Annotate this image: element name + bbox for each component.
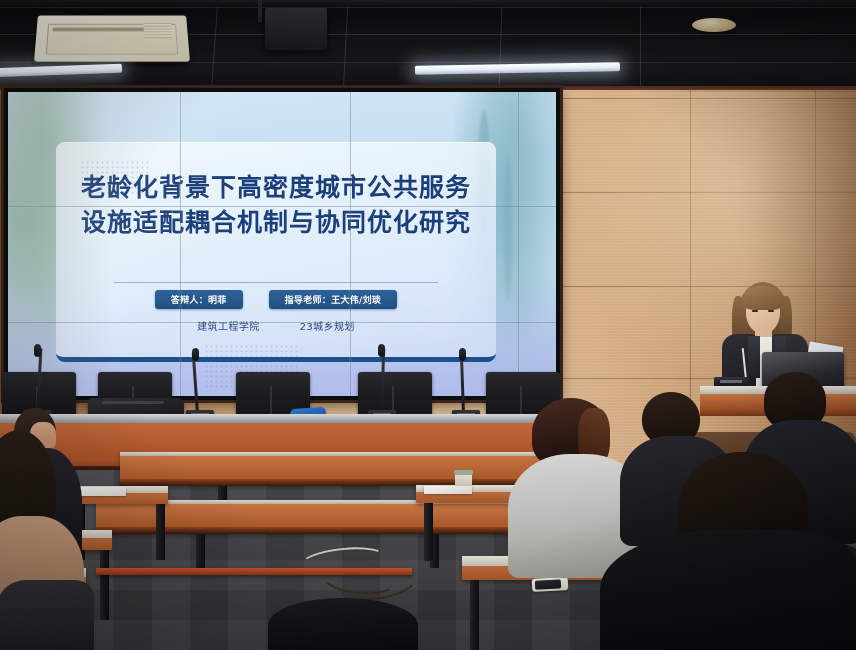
ceiling-grid-line (211, 0, 219, 96)
ceiling-grid-line (498, 0, 502, 96)
audience-left-front (0, 430, 92, 650)
projector-box (265, 8, 327, 50)
paper-sheet (424, 486, 472, 494)
presenter-tag: 答辩人：明菲 (155, 290, 243, 309)
torso (600, 530, 856, 650)
desk-leg (424, 503, 433, 561)
slide-tag-row: 答辩人：明菲 指导老师：王大伟/刘琰 (102, 290, 450, 309)
torso (268, 598, 418, 650)
video-wall-screen: 老龄化背景下高密度城市公共服务 设施适配耦合机制与协同优化研究 答辩人：明菲 指… (8, 92, 556, 396)
bench-leg (196, 534, 205, 568)
microphone-head (459, 348, 466, 361)
ceiling-grid-line (342, 0, 348, 96)
department-label: 建筑工程学院 (197, 318, 259, 333)
program-label: 23城乡规划 (300, 318, 355, 333)
panel-seam-vertical (518, 92, 519, 396)
panel-seam-horizontal (8, 206, 556, 207)
audience-center-front (268, 598, 418, 650)
lower-body (0, 580, 94, 650)
panel-seam-vertical (350, 92, 351, 396)
smartphone (532, 577, 569, 592)
audience-far-right (600, 530, 856, 650)
microphone-head (34, 344, 41, 357)
projector-mount (258, 0, 262, 22)
slide-card: 老龄化背景下高密度城市公共服务 设施适配耦合机制与协同优化研究 答辩人：明菲 指… (56, 142, 496, 362)
hair-fringe (742, 286, 784, 310)
slide-title-line-2: 设施适配耦合机制与协同优化研究 (56, 205, 496, 240)
slide-divider (114, 282, 438, 283)
slide-title: 老龄化背景下高密度城市公共服务 设施适配耦合机制与协同优化研究 (56, 170, 496, 240)
slide-title-line-1: 老龄化背景下高密度城市公共服务 (56, 170, 496, 205)
wall-seam (560, 98, 856, 99)
ac-unit (34, 16, 190, 62)
slide-subtitle-row: 建筑工程学院 23城乡规划 (102, 318, 450, 333)
desk-leg (470, 580, 479, 650)
eye-right (768, 310, 774, 312)
wall-seam (560, 192, 856, 193)
microphone-head (192, 348, 199, 361)
panel-seam-horizontal (8, 322, 556, 323)
panel-seam-vertical (180, 92, 181, 396)
ceiling-grid-line (0, 62, 856, 63)
speaker-dome (692, 18, 736, 32)
ac-unit-grille (143, 23, 172, 38)
ceiling-grid-line (640, 0, 641, 96)
desk-leg (100, 550, 109, 620)
light-strip-left (0, 64, 122, 78)
desk-leg (156, 504, 165, 560)
presentation-room-photo: 老龄化背景下高密度城市公共服务 设施适配耦合机制与协同优化研究 答辩人：明菲 指… (0, 0, 856, 650)
ceiling-beam (0, 0, 856, 7)
microphone-head (378, 344, 385, 357)
ceiling (0, 0, 856, 96)
video-wall: 老龄化背景下高密度城市公共服务 设施适配耦合机制与协同优化研究 答辩人：明菲 指… (4, 88, 560, 400)
advisor-tag: 指导老师：王大伟/刘琰 (269, 290, 398, 309)
light-strip-right (415, 62, 620, 75)
panel-table-top (0, 414, 576, 423)
eye-left (752, 310, 758, 312)
